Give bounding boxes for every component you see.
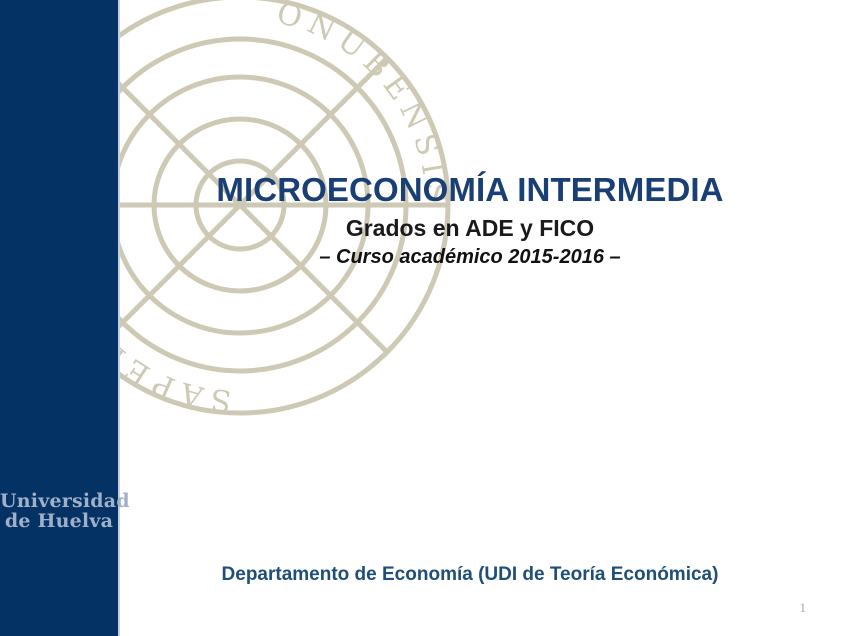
sidebar-divider	[118, 0, 120, 636]
subtitle-academic-year: – Curso académico 2015-2016 –	[120, 246, 820, 269]
footer-department: Departamento de Economía (UDI de Teoría …	[120, 564, 820, 586]
logo-line-2: de Huelva	[0, 512, 118, 532]
left-sidebar	[0, 0, 118, 636]
logo-line-1: Universidad	[0, 492, 118, 512]
title-block: MICROECONOMÍA INTERMEDIA Grados en ADE y…	[120, 172, 820, 269]
watermark-layer: ONUBENSIS SAPERE AUDE	[120, 0, 848, 636]
presentation-slide: ONUBENSIS SAPERE AUDE Universidad de Hue…	[0, 0, 848, 636]
page-title: MICROECONOMÍA INTERMEDIA	[120, 172, 820, 209]
universidad-de-huelva-logo: Universidad de Huelva	[0, 492, 118, 532]
page-number: 1	[800, 600, 807, 616]
subtitle-degrees: Grados en ADE y FICO	[120, 215, 820, 241]
